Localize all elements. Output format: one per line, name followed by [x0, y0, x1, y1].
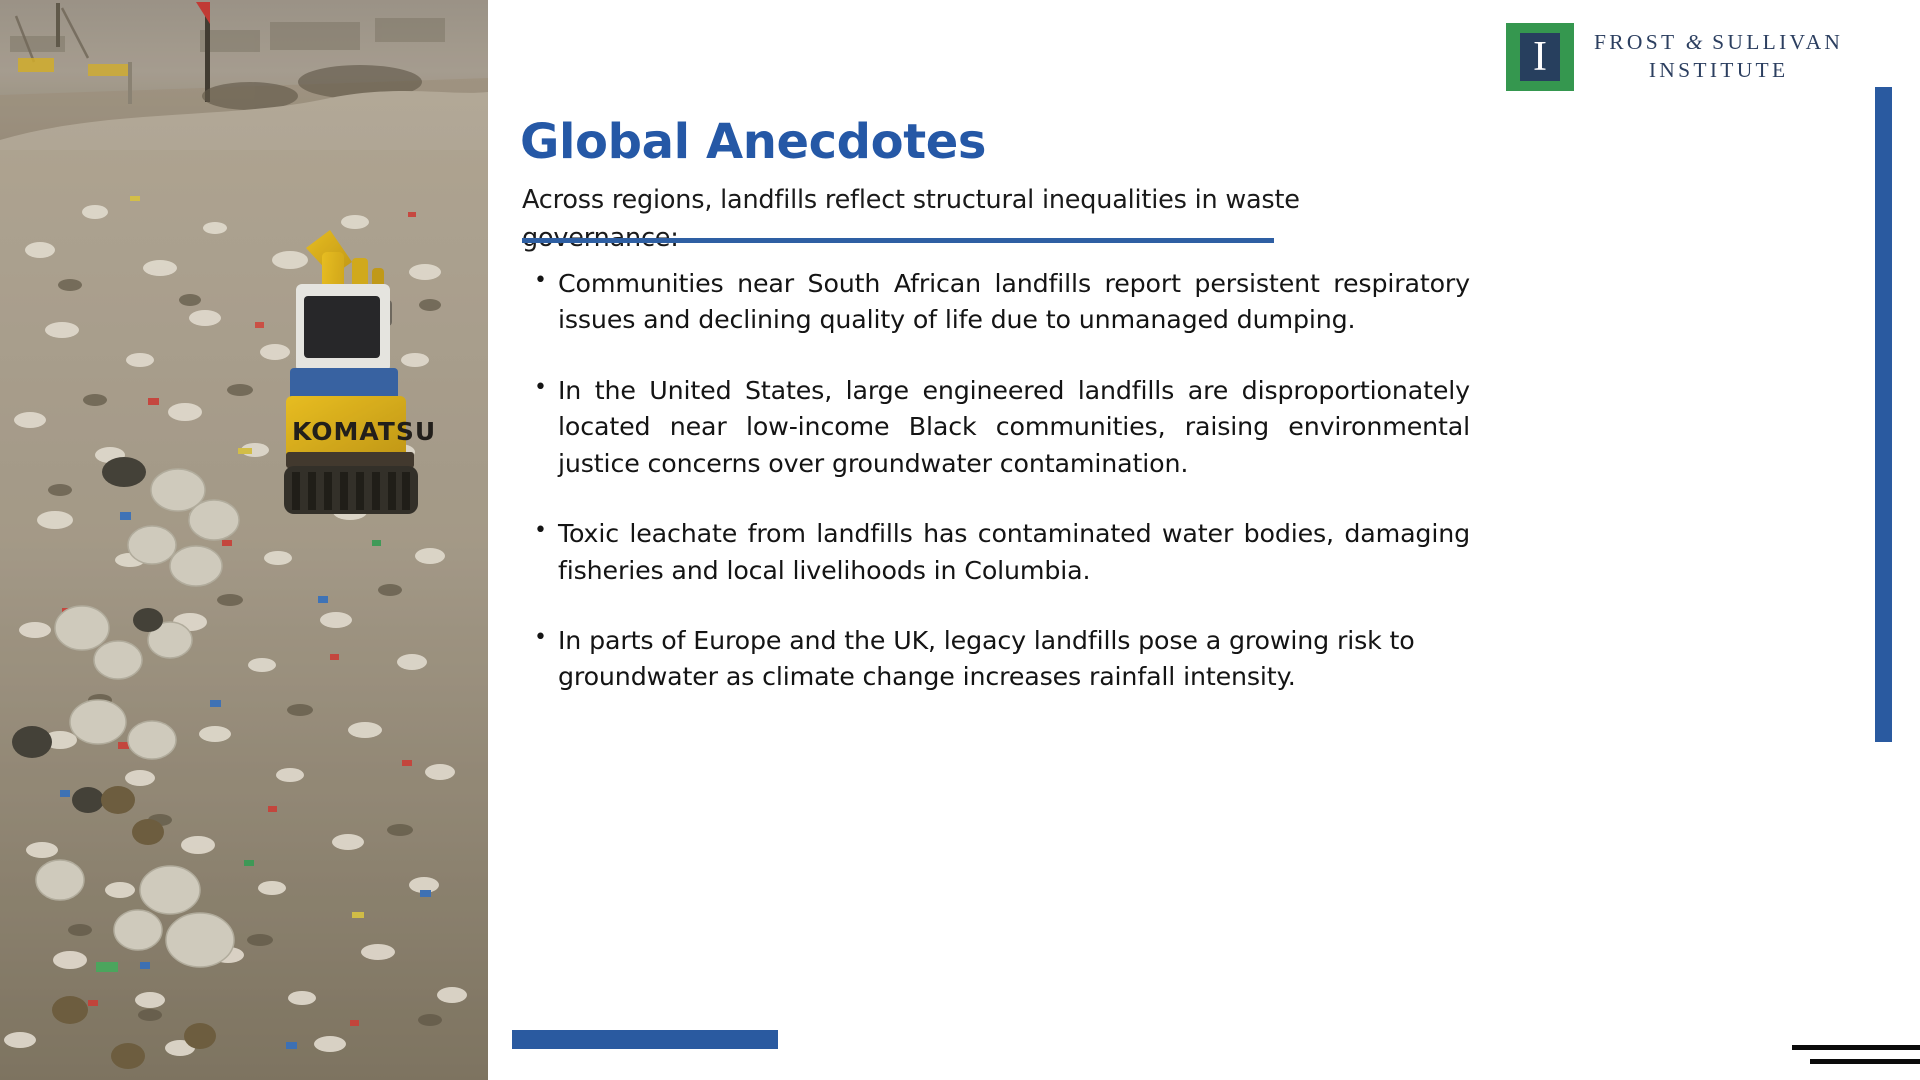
landfill-photo: KOMATSU — [0, 0, 488, 1080]
list-item: Communities near South African landfills… — [522, 266, 1470, 339]
slide-subtitle: Across regions, landfills reflect struct… — [522, 181, 1312, 258]
slide-root: KOMATSU I FROST & SULLIVAN INSTITUTE Glo… — [0, 0, 1920, 1080]
bottom-rule-lower — [1810, 1059, 1920, 1064]
title-divider — [522, 238, 1274, 243]
bullet-list: Communities near South African landfills… — [522, 266, 1470, 696]
right-accent-bar — [1875, 87, 1892, 742]
list-item: In parts of Europe and the UK, legacy la… — [522, 623, 1470, 696]
landfill-photo-illustration: KOMATSU — [0, 0, 488, 1080]
bottom-accent-bar — [512, 1030, 778, 1049]
bottom-rule-upper — [1792, 1045, 1920, 1050]
list-item: Toxic leachate from landfills has contam… — [522, 516, 1470, 589]
slide-content: Global Anecdotes Across regions, landfil… — [520, 0, 1770, 1080]
list-item: In the United States, large engineered l… — [522, 373, 1470, 482]
page-title: Global Anecdotes — [520, 116, 986, 169]
